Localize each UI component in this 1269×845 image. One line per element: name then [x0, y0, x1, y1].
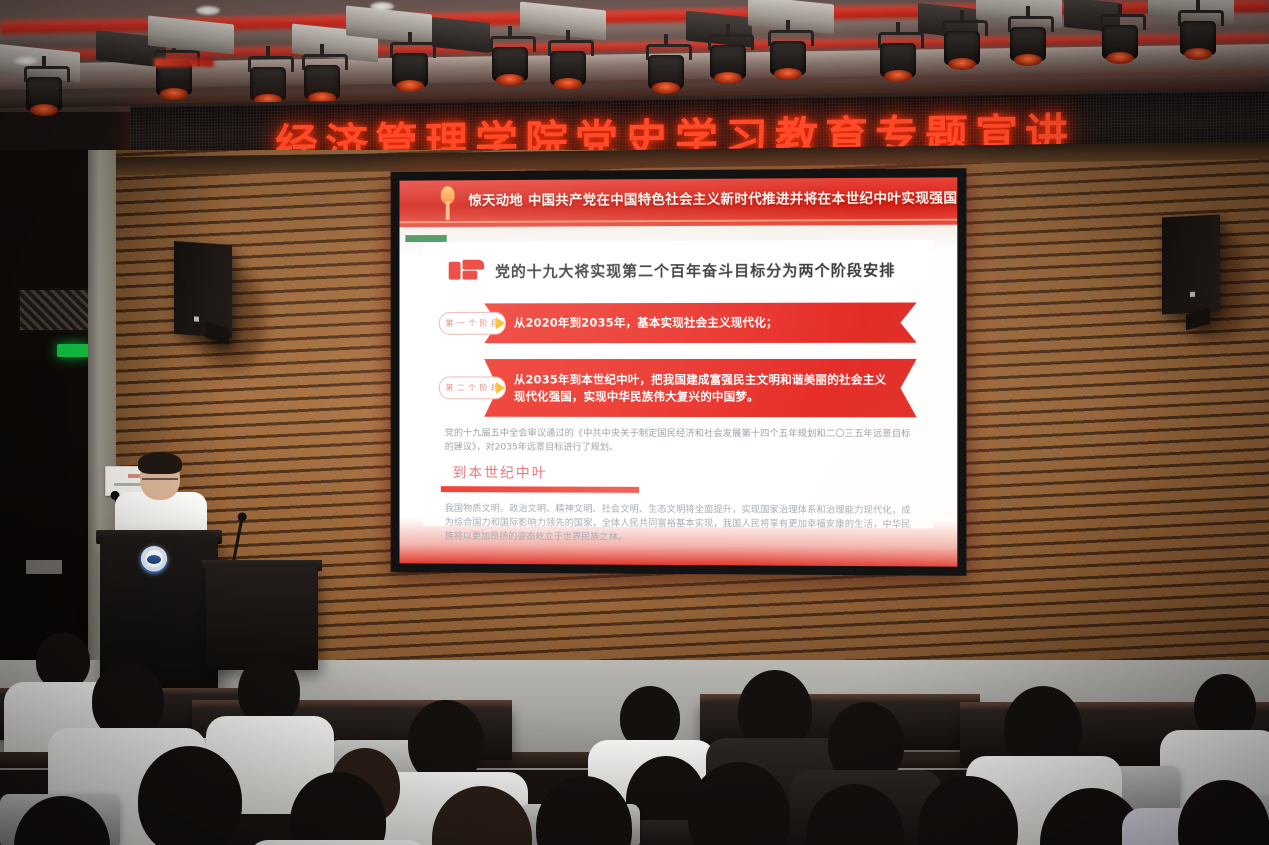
par-light-lens [30, 104, 58, 116]
audience-area [0, 590, 1269, 845]
wall-speaker-right [1162, 214, 1220, 314]
wall-notice-plate [26, 560, 62, 574]
auditorium-photo: 经济管理学院党史学习教育专题宣讲 惊天动地 [0, 0, 1269, 845]
slide-paragraph-1: 党的十九届五中全会审议通过的《中共中央关于制定国民经济和社会发展第十四个五年规划… [445, 427, 911, 456]
stage-light-glow [196, 6, 220, 15]
par-light-fixture [766, 30, 810, 88]
speaker-indicator-led [1190, 292, 1195, 297]
slide-stage-item-2: 第 二 个 阶 段 从2035年到本世纪中叶，把我国建成富强民主文明和谐美丽的社… [439, 359, 917, 417]
hand-icon-part [449, 262, 461, 280]
par-light-fixture [706, 34, 750, 92]
projection-screen: 惊天动地 中国共产党在中国特色社会主义新时代推进并将在本世纪中叶实现强国大业 党… [391, 168, 967, 576]
par-light-fixture [546, 40, 590, 98]
slide-sub-heading: 到本世纪中叶 [453, 462, 548, 482]
speaker-indicator-led [194, 316, 199, 321]
stage-arrow-icon [496, 317, 505, 329]
par-light-lens [554, 78, 582, 90]
stage-light-glow [370, 2, 394, 11]
par-light-fixture [1098, 14, 1142, 72]
par-light-fixture [22, 66, 66, 124]
par-light-fixture [940, 20, 984, 78]
torch-icon [435, 186, 461, 220]
audience-member-torso [248, 840, 428, 845]
par-light-fixture [1006, 16, 1050, 74]
wall-speaker-left [174, 241, 232, 338]
slide-sub-heading-underline [441, 486, 639, 493]
hand-icon-part [463, 271, 478, 280]
stage-arrow-icon [496, 382, 505, 394]
pointing-hand-icon [449, 260, 485, 282]
stage-text-1: 从2020年到2035年，基本实现社会主义现代化； [514, 314, 892, 331]
stage-text-2: 从2035年到本世纪中叶，把我国建成富强民主文明和谐美丽的社会主义现代化强国，实… [514, 371, 892, 405]
torch-handle [446, 201, 450, 220]
par-light-lens [774, 68, 802, 80]
par-light-lens [496, 74, 524, 86]
slide-stage-item-1: 第 一 个 阶 段 从2020年到2035年，基本实现社会主义现代化； [439, 302, 917, 343]
par-light-fixture [644, 44, 688, 102]
audience-member-head [138, 746, 242, 845]
par-light-lens [1184, 48, 1212, 60]
par-light-lens [396, 80, 424, 92]
light-red-spill [154, 58, 214, 67]
slide-bullet-heading-row: 党的十九大将实现第二个百年奋斗目标分为两个阶段安排 [449, 258, 896, 281]
par-light-fixture [488, 36, 532, 94]
par-light-lens [948, 58, 976, 70]
par-light-lens [1106, 52, 1134, 64]
par-light-lens [714, 72, 742, 84]
par-light-fixture [388, 42, 432, 100]
presenter-hair [138, 452, 182, 474]
slide-header-text: 惊天动地 中国共产党在中国特色社会主义新时代推进并将在本世纪中叶实现强国大业 [468, 186, 947, 209]
presenter-glasses [142, 478, 178, 487]
par-light-lens [652, 82, 680, 94]
stage-light-hood [432, 17, 490, 53]
slide-paragraph-2: 我国物质文明、政治文明、精神文明、社会文明、生态文明将全面提升，实现国家治理体系… [445, 502, 911, 546]
hand-icon-part [463, 260, 485, 270]
par-light-lens [1014, 54, 1042, 66]
par-light-fixture [1176, 10, 1220, 68]
par-light-lens [160, 88, 188, 100]
exit-sign-icon [57, 344, 89, 357]
podium-emblem-logo [140, 546, 168, 574]
par-light-fixture [876, 32, 920, 90]
slide-bullet-heading: 党的十九大将实现第二个百年奋斗目标分为两个阶段安排 [495, 259, 895, 281]
par-light-lens [884, 70, 912, 82]
slide-content-card: 党的十九大将实现第二个百年奋斗目标分为两个阶段安排 第 一 个 阶 段 从202… [423, 240, 933, 528]
presentation-slide: 惊天动地 中国共产党在中国特色社会主义新时代推进并将在本世纪中叶实现强国大业 党… [400, 177, 958, 566]
stage-light-glow [14, 56, 38, 65]
